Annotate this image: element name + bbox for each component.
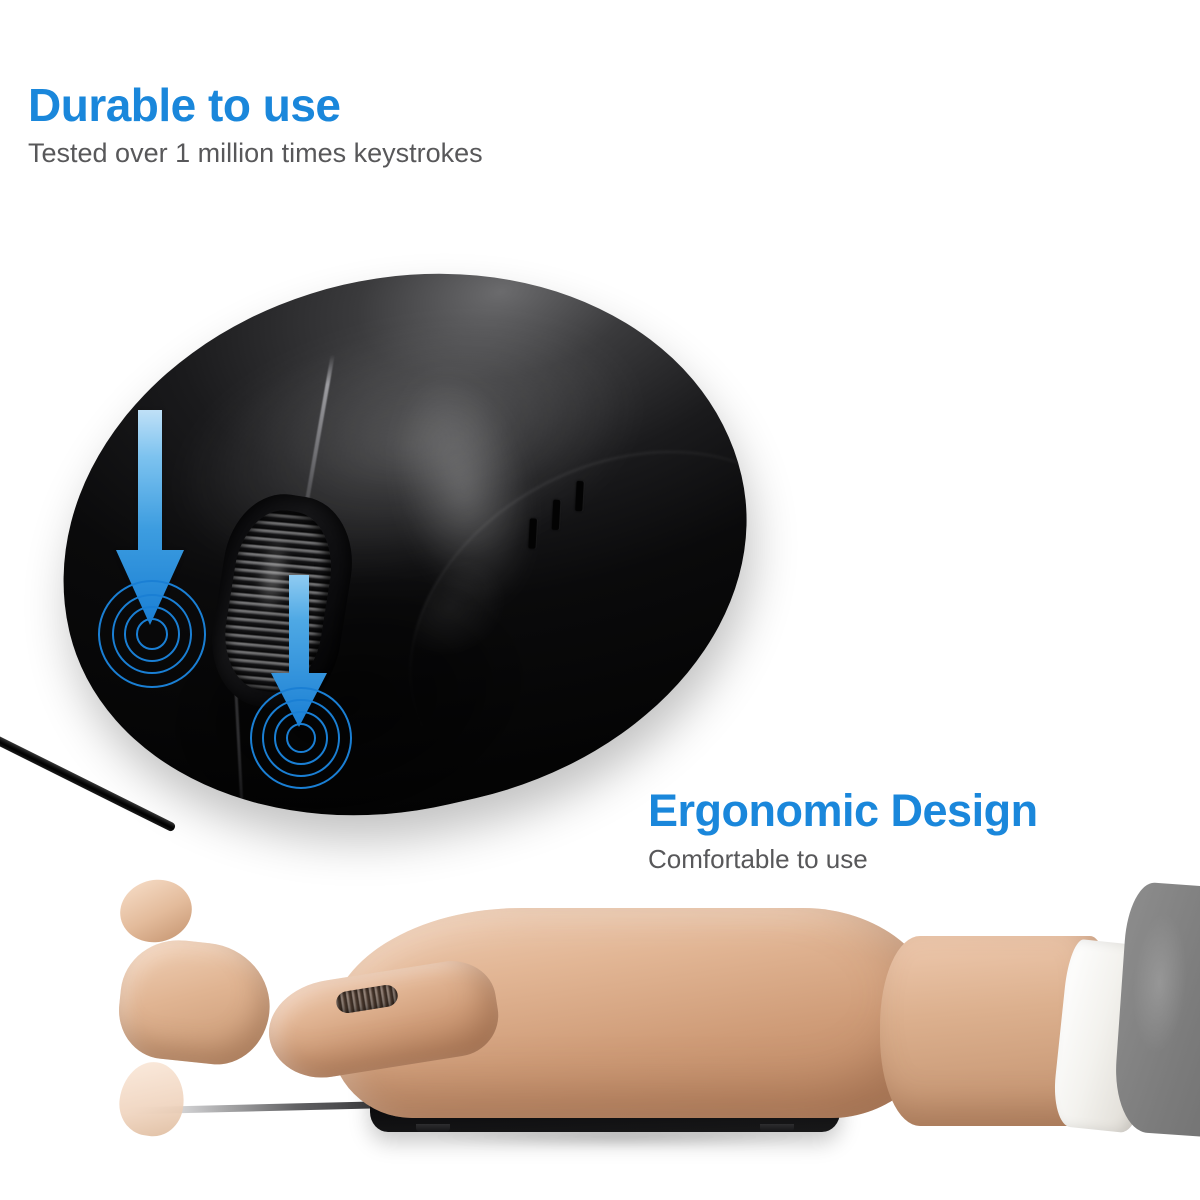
thumb [114,934,276,1069]
durable-text-block: Durable to use Tested over 1 million tim… [28,82,483,169]
hand-on-mouse-illustration [120,880,1200,1200]
ripple-ring [286,723,316,753]
ergonomic-headline: Ergonomic Design [648,788,1038,833]
sleeve-shading [1112,881,1200,1145]
suit-sleeve [1112,881,1200,1145]
thumb-nail [115,1058,189,1140]
ripple-ring [136,618,168,650]
index-fingertip [114,873,197,949]
product-feature-image: Durable to use Tested over 1 million tim… [0,0,1200,1200]
durable-subhead: Tested over 1 million times keystrokes [28,128,483,169]
durable-headline: Durable to use [28,82,483,128]
ergonomic-subhead: Comfortable to use [648,833,1038,874]
hand [120,880,1200,1200]
ergonomic-text-block: Ergonomic Design Comfortable to use [648,788,1038,874]
